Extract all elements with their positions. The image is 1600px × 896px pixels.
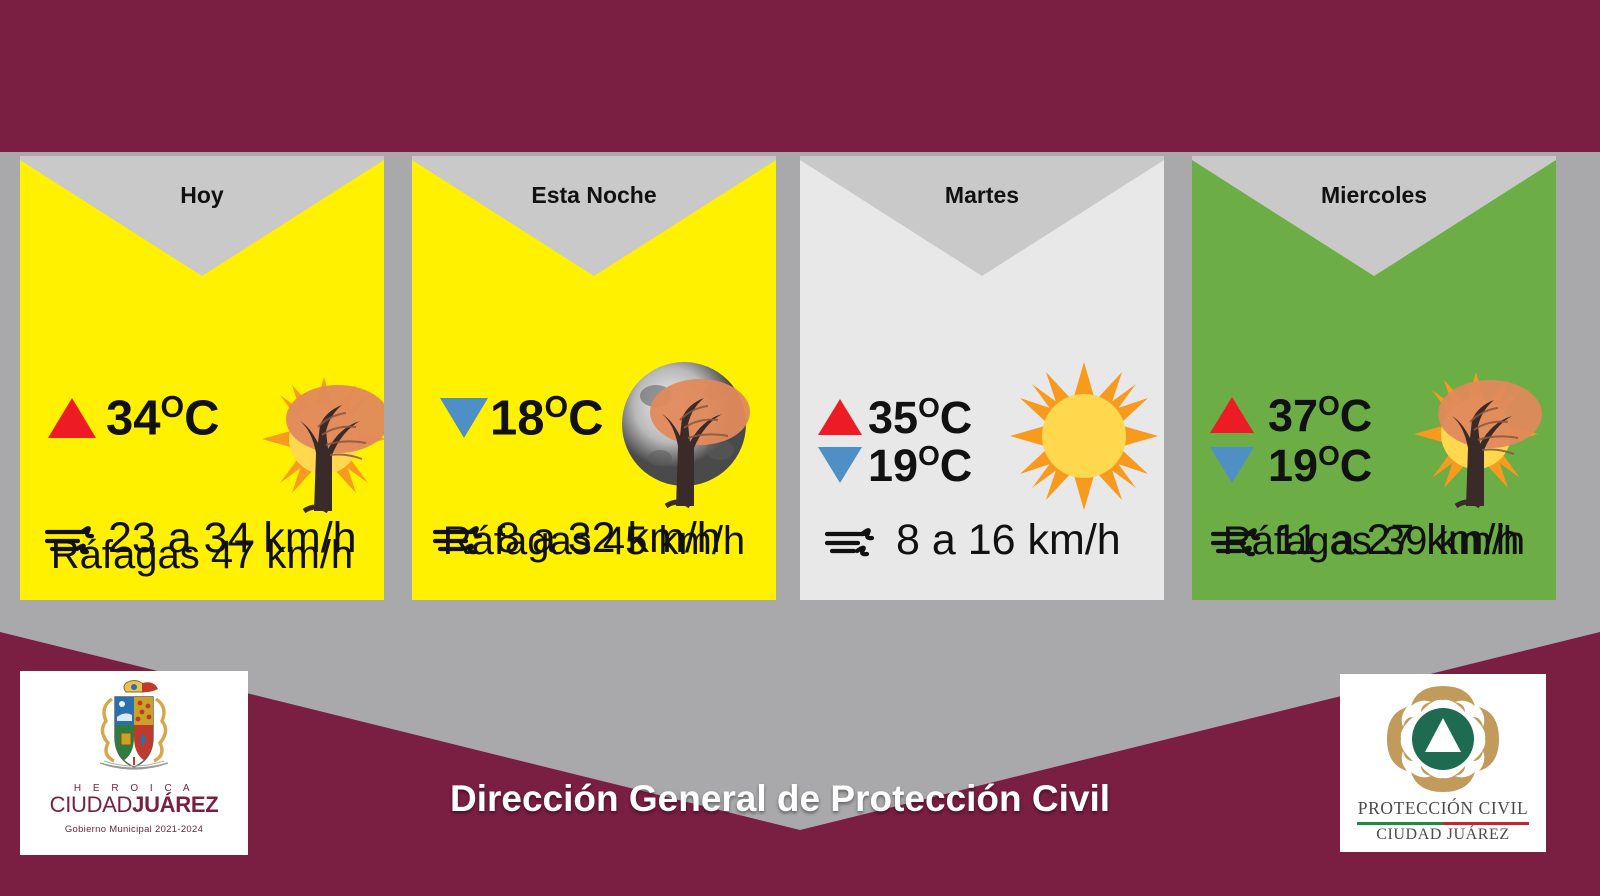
card-day-label: Hoy [20, 182, 384, 209]
temperature-block: 35OC 19OC [818, 394, 972, 488]
sun-windy-tree-icon [1404, 356, 1554, 516]
wind-value: 8 a 16 km/h [896, 516, 1121, 565]
moon-windy-tree-icon [616, 358, 756, 513]
forecast-card-esta-noche[interactable]: Esta Noche [412, 156, 776, 600]
temperature-block: 37OC 19OC [1210, 392, 1372, 488]
sun-icon [1004, 356, 1164, 516]
triangle-up-red-icon [1210, 397, 1254, 433]
proteccion-civil-logo: PROTECCIÓN CIVIL CIUDAD JUÁREZ [1340, 674, 1546, 852]
rule-green [1357, 822, 1443, 825]
rule-red [1443, 822, 1529, 825]
temperature-block: 34OC [48, 392, 220, 443]
high-temp-value: 35OC [868, 394, 972, 440]
sun-windy-tree-icon [252, 361, 384, 521]
high-temp-row: 35OC [818, 394, 972, 440]
low-temp-row: 18OC [440, 392, 604, 443]
forecast-card-miercoles[interactable]: Miercoles [1192, 156, 1556, 600]
ciudad-juarez-logo: H E R O I C A CIUDADJUÁREZ Gobierno Muni… [20, 671, 248, 855]
gusts-value: Ráfagas 45 km/h [412, 519, 776, 564]
triangle-down-blue-icon [818, 447, 862, 483]
logo-left-line3: Gobierno Municipal 2021-2024 [65, 824, 203, 835]
low-temp-value: 18OC [490, 392, 604, 443]
low-temp-row: 19OC [1210, 442, 1372, 488]
footer-title: Dirección General de Protección Civil [300, 778, 1260, 820]
logo-left-line2: CIUDADJUÁREZ [50, 794, 219, 816]
wind-row: 8 a 16 km/h [824, 516, 1121, 565]
gusts-value: Ráfagas 47 km/h [20, 533, 384, 578]
temperature-block: 18OC [440, 392, 604, 443]
gusts-value: Ráfagas 39 km/h [1192, 519, 1556, 564]
triangle-up-red-icon [818, 399, 862, 435]
card-day-label: Miercoles [1192, 182, 1556, 209]
mexican-flag-rules [1357, 822, 1529, 825]
card-day-label: Esta Noche [412, 182, 776, 209]
forecast-card-martes[interactable]: Martes [800, 156, 1164, 600]
low-temp-value: 19OC [1268, 442, 1372, 488]
high-temp-row: 34OC [48, 392, 220, 443]
logo-right-line1: PROTECCIÓN CIVIL [1358, 798, 1529, 819]
high-temp-value: 37OC [1268, 392, 1372, 438]
forecast-card-hoy[interactable]: Hoy [20, 156, 384, 600]
triangle-down-blue-icon [440, 398, 488, 438]
triangle-up-red-icon [48, 398, 96, 438]
wind-icon [824, 522, 878, 560]
proteccion-civil-emblem-icon [1381, 680, 1505, 798]
ciudad-juarez-coat-of-arms-icon [78, 677, 190, 781]
forecast-card-row: Hoy [0, 156, 1600, 600]
high-temp-row: 37OC [1210, 392, 1372, 438]
low-temp-row: 19OC [818, 442, 972, 488]
triangle-down-blue-icon [1210, 447, 1254, 483]
high-temp-value: 34OC [106, 392, 220, 443]
low-temp-value: 19OC [868, 442, 972, 488]
card-day-label: Martes [800, 182, 1164, 209]
header-band [0, 0, 1600, 152]
logo-right-line2: CIUDAD JUÁREZ [1376, 826, 1510, 844]
weather-forecast-infographic: Pronóstico de Clima 09 de mayo del 2022 … [0, 0, 1600, 896]
